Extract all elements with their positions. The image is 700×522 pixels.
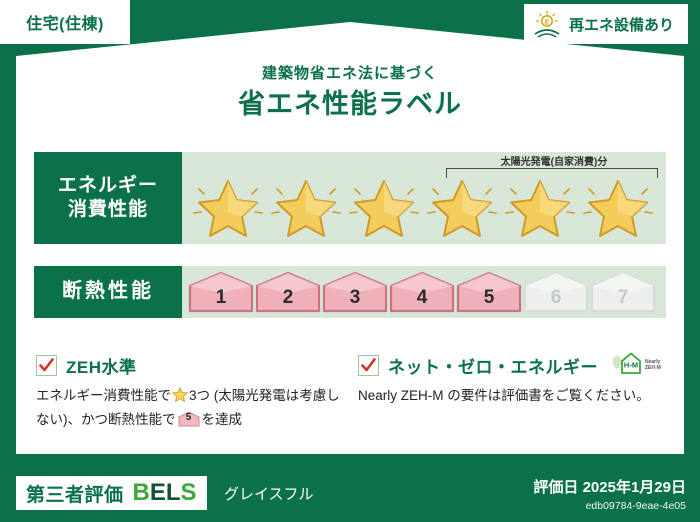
renewable-badge-label: 再エネ設備あり [569, 14, 674, 35]
insulation-performance-label: 断熱性能 [34, 266, 182, 318]
star-1 [190, 172, 266, 242]
label-title: 省エネ性能ラベル [0, 82, 700, 121]
insulation-level-4: 4 [389, 271, 455, 313]
insulation-level-3: 3 [322, 271, 388, 313]
zeh-standard-title: ZEH水準 [66, 353, 137, 378]
net-zero-energy-checkbox[interactable] [358, 355, 379, 376]
insulation-level-value: 6 [551, 287, 562, 313]
zeh-desc-part3: を達成 [202, 412, 243, 427]
bels-energy-label: 住宅(住棟) E 再エネ設備あり 建築物省エネ法に基づく 省エネ性能ラベル [0, 0, 700, 522]
insulation-level-value: 2 [283, 287, 294, 313]
bels-logo: BELS [133, 479, 197, 507]
star-2 [268, 172, 344, 242]
svg-text:ZEH-M: ZEH-M [645, 365, 661, 371]
evaluation-date: 評価日 2025年1月29日 [533, 476, 686, 497]
inline-star-icon [172, 390, 188, 405]
building-type-tag: 住宅(住棟) [0, 0, 130, 44]
insulation-performance-row: 断熱性能 1234567 [34, 266, 666, 318]
insulation-level-value: 7 [618, 287, 629, 313]
evaluation-info: 評価日 2025年1月29日 edb09784-9eae-4e05 [533, 476, 686, 512]
star-3 [346, 172, 422, 242]
insulation-level-6: 6 [523, 271, 589, 313]
insulation-label-text: 断熱性能 [62, 279, 154, 305]
zeh-standard-checkbox[interactable] [36, 355, 57, 376]
star-5 [502, 172, 578, 242]
star-rating [190, 172, 662, 242]
building-type-label: 住宅(住棟) [26, 10, 104, 34]
bels-el: EL [150, 479, 181, 506]
inline-badge-value: 5 [178, 411, 200, 427]
svg-text:E: E [545, 20, 550, 27]
zeh-standard-description: エネルギー消費性能で3つ (太陽光発電は考慮しない)、かつ断熱性能で5を達成 [36, 385, 344, 431]
inline-insulation-badge: 5 [178, 411, 200, 427]
certificate-id: edb09784-9eae-4e05 [533, 500, 686, 512]
net-zero-energy-description: Nearly ZEH-M の要件は評価書をご覧ください。 [358, 385, 664, 407]
label-subtitle: 建築物省エネ法に基づく [0, 62, 700, 83]
bels-b: B [133, 479, 150, 506]
zeh-m-logo-icon: H-M Nearly ZEH-M [611, 350, 663, 380]
brand-name: グレイスフル [224, 483, 314, 504]
energy-label-line1: エネルギー [58, 174, 158, 198]
svg-text:H-M: H-M [624, 361, 638, 370]
net-zero-energy-header: ネット・ゼロ・エネルギー H-M Nearly ZEH-M [358, 352, 664, 378]
insulation-level-1: 1 [188, 271, 254, 313]
energy-performance-label: エネルギー 消費性能 [34, 152, 182, 244]
insulation-level-7: 7 [590, 271, 656, 313]
zeh-standard-block: ZEH水準 エネルギー消費性能で3つ (太陽光発電は考慮しない)、かつ断熱性能で… [36, 352, 344, 431]
zeh-desc-part1: エネルギー消費性能で [36, 388, 171, 403]
insulation-level-5: 5 [456, 271, 522, 313]
insulation-level-value: 3 [350, 287, 361, 313]
net-zero-energy-block: ネット・ゼロ・エネルギー H-M Nearly ZEH-M Nearly ZEH… [358, 352, 664, 407]
bels-footer-badge: 第三者評価 BELS [16, 476, 207, 510]
zeh-standard-header: ZEH水準 [36, 352, 344, 378]
solar-generation-note: 太陽光発電(自家消費)分 [448, 153, 660, 168]
insulation-level-2: 2 [255, 271, 321, 313]
insulation-level-value: 1 [216, 287, 227, 313]
bels-s: S [181, 479, 197, 506]
star-6 [580, 172, 656, 242]
net-zero-energy-title: ネット・ゼロ・エネルギー [388, 353, 598, 378]
star-4 [424, 172, 500, 242]
insulation-level-value: 5 [484, 287, 495, 313]
energy-performance-row: エネルギー 消費性能 太陽光発電(自家消費)分 [34, 152, 666, 244]
insulation-level-list: 1234567 [182, 266, 666, 318]
renewable-energy-badge: E 再エネ設備あり [524, 4, 688, 44]
insulation-performance-scale: 1234567 [182, 266, 666, 318]
insulation-level-value: 4 [417, 287, 428, 313]
energy-performance-scale: 太陽光発電(自家消費)分 [182, 152, 666, 244]
third-party-label: 第三者評価 [26, 480, 124, 507]
energy-label-line2: 消費性能 [68, 198, 148, 222]
solar-sun-icon: E [532, 10, 562, 38]
